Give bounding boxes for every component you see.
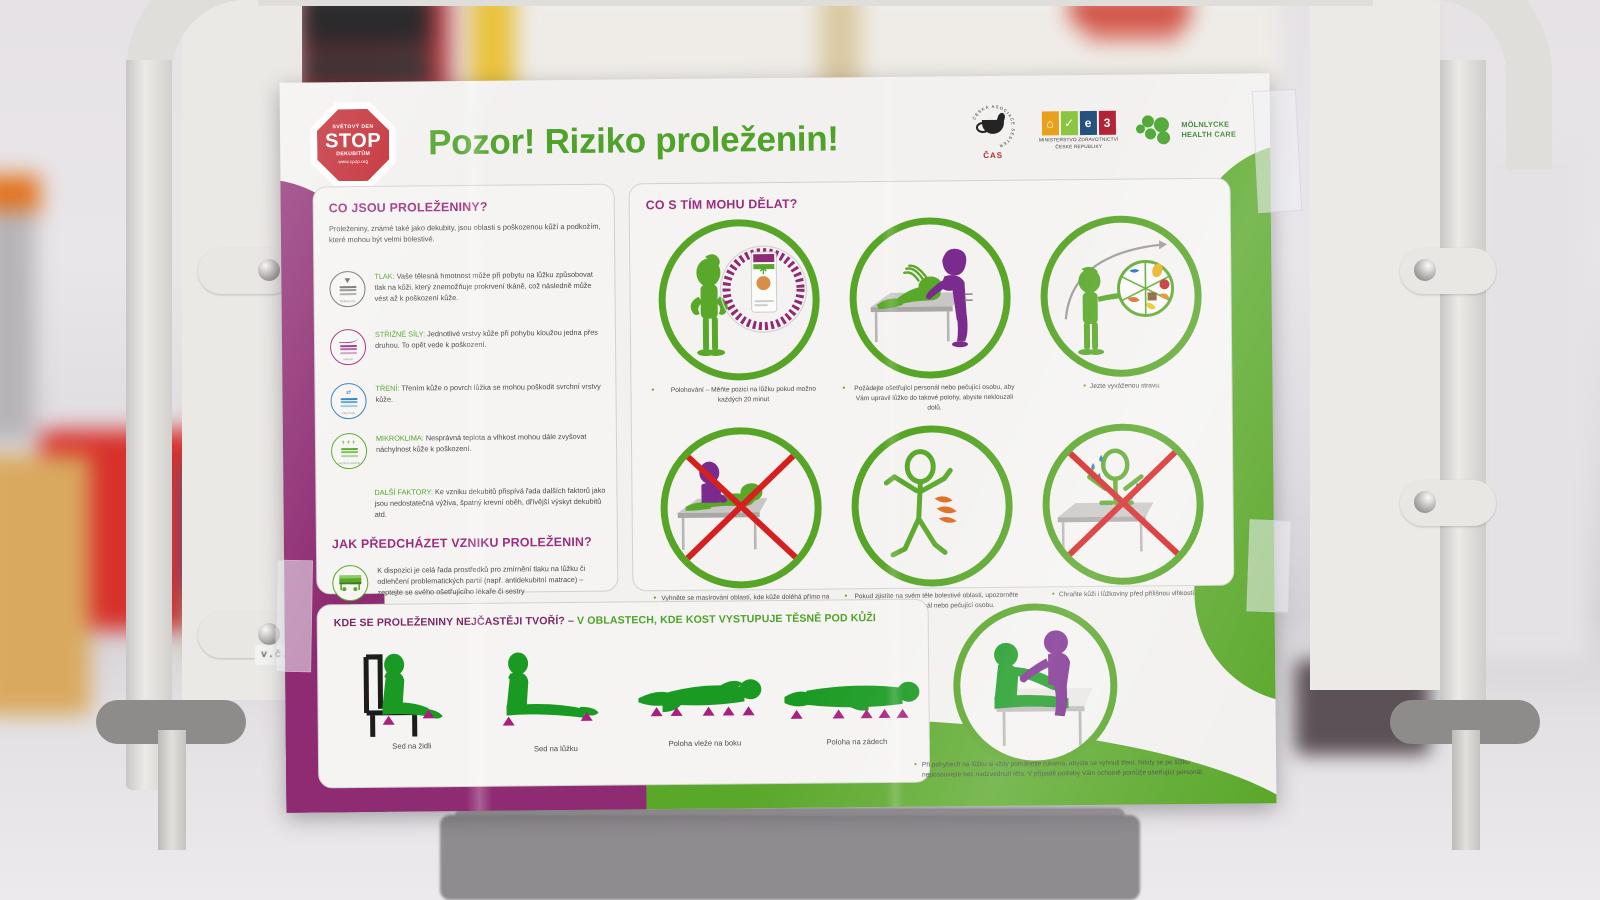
- advice-caption-avoid-moisture: Chraňte kůži i lůžkoviny před přílišnou …: [1059, 589, 1196, 600]
- stop-octagon-icon: SVĚTOVÝ DEN STOP DEKUBITŮM www.cpzp.org: [310, 102, 397, 189]
- logo-ministerstvo-zdravotnictvi: ⌂ ✓ e 3 MINISTERSTVO ZDRAVOTNICTVÍ ČESKÉ…: [1039, 111, 1119, 152]
- position-label-side: Poloha vleže na boku: [625, 738, 785, 749]
- factor-other: DALŠÍ FAKTORY: Ke vzniku dekubitů přispí…: [374, 485, 607, 521]
- no-massage-icon: [660, 426, 823, 589]
- bed-rail-left: [126, 60, 172, 790]
- pressure-icon-label: PRESSURE: [331, 300, 365, 303]
- cas-abbreviation: ČAS: [983, 151, 1003, 160]
- bed-base: [440, 815, 1140, 900]
- bottom-panel-heading: KDE SE PROLEŽENINY NEJČASTĚJI TVOŘÍ? – V…: [334, 612, 876, 629]
- stop-logo-sub-text: DEKUBITŮM: [336, 152, 370, 158]
- pressure-icon: PRESSURE: [329, 271, 365, 307]
- molnlycke-dots-icon: [1136, 115, 1176, 145]
- bottom-heading-magenta: KDE SE PROLEŽENINY NEJČASTĚJI TVOŘÍ? –: [334, 615, 577, 629]
- advice-caption-bed-adjust: Požádejte ošetřující personál nebo pečuj…: [849, 383, 1019, 414]
- tape-bottom-left: [275, 560, 313, 673]
- molnlycke-line-2: HEALTH CARE: [1181, 130, 1236, 141]
- panel-what-can-i-do: CO S TÍM MOHU DĚLAT?: [629, 178, 1235, 592]
- factor-term-pressure: TLAK:: [374, 272, 394, 281]
- pressure-ulcer-poster: SVĚTOVÝ DEN STOP DEKUBITŮM www.cpzp.org …: [280, 73, 1277, 812]
- bullet-icon: •: [1052, 590, 1055, 600]
- red-bar-2: [1085, 18, 1180, 40]
- stop-logo-main-text: STOP: [325, 131, 381, 152]
- ministry-tiles-icon: ⌂ ✓ e 3: [1041, 111, 1115, 136]
- advice-item-avoid-moisture: •Chraňte kůži i lůžkoviny před přílišnou…: [1034, 423, 1213, 610]
- position-sitting-bed: Sed na lůžku: [480, 644, 631, 744]
- bed-rail-clip-right-lower[interactable]: [1400, 480, 1496, 526]
- advice-item-repositioning: •Polohování – Měňte pozici na lůžku poku…: [650, 219, 829, 416]
- bed-rail-clip-right-upper[interactable]: [1400, 248, 1496, 294]
- right-panel-heading: CO S TÍM MOHU DĚLAT?: [646, 197, 798, 212]
- position-lying-back: Poloha na zádech: [776, 673, 937, 736]
- body-positions: Sed na židli: [328, 638, 921, 776]
- report-pain-icon: [851, 424, 1014, 587]
- microclimate-icon-label: MICROCLIMATE: [332, 462, 366, 465]
- repositioning-clock-icon: [658, 219, 821, 382]
- factor-term-microclimate: MIKROKLIMA:: [376, 433, 424, 442]
- friction-icon: ⇄ FRICTION: [330, 383, 366, 419]
- lying-on-side-icon: [624, 669, 785, 731]
- stop-decubitus-logo: SVĚTOVÝ DEN STOP DEKUBITŮM www.cpzp.org: [310, 102, 397, 189]
- balanced-diet-icon: [1040, 215, 1203, 378]
- poster-header: SVĚTOVÝ DEN STOP DEKUBITŮM www.cpzp.org …: [310, 91, 1247, 178]
- bolt-icon: [1414, 491, 1436, 513]
- stop-logo-url: www.cpzp.org: [338, 160, 368, 165]
- bullet-icon: •: [842, 384, 845, 414]
- shear-icon: SHEAR: [330, 329, 366, 365]
- ministry-line-1: MINISTERSTVO ZDRAVOTNICTVÍ: [1039, 138, 1119, 145]
- bottom-right-caption-text: Při pohybech na lůžku si vždy pomáhejte …: [922, 758, 1214, 781]
- logo-molnlycke: MÖLNLYCKE HEALTH CARE: [1136, 115, 1236, 146]
- use-arms-when-moving-icon: [953, 603, 1119, 769]
- logo-ceska-asociace-sester: ČESKÁ ASOCIACE SESTER ČAS: [965, 104, 1022, 161]
- position-label-bed: Sed na lůžku: [476, 743, 636, 754]
- grey-seat: [0, 210, 35, 440]
- bullet-icon: •: [1083, 382, 1086, 392]
- bed-leg-right: [1452, 730, 1480, 850]
- tape-top-right: [1252, 89, 1302, 213]
- ministry-line-2: ČESKÉ REPUBLIKY: [1039, 144, 1119, 151]
- ministry-tile-2: ✓: [1060, 111, 1077, 135]
- friction-icon-label: FRICTION: [332, 412, 366, 415]
- bed-adjust-nurse-icon: [849, 217, 1012, 380]
- factor-term-other: DALŠÍ FAKTORY:: [374, 487, 433, 497]
- partner-logos: ČESKÁ ASOCIACE SESTER ČAS ⌂ ✓ e 3: [965, 102, 1237, 161]
- mattress-icon: [332, 565, 368, 601]
- microclimate-icon: ↟↟↟ MICROCLIMATE: [331, 433, 367, 469]
- bed-rail-right: [1440, 60, 1486, 740]
- ministry-tile-3: e: [1079, 111, 1096, 135]
- factor-term-friction: TŘENÍ:: [375, 384, 399, 393]
- ministry-tile-4: 3: [1098, 111, 1115, 135]
- position-lying-side: Poloha vleže na boku: [624, 669, 785, 736]
- bed-leg-left: [158, 730, 186, 850]
- advice-caption-diet: Jezte vyváženou stravu.: [1090, 381, 1161, 392]
- advice-item-no-massage: •Vyhněte se masírování oblastí, kde kůže…: [652, 426, 831, 613]
- bottom-right-caption: • Při pohybech na lůžku si vždy pomáhejt…: [914, 758, 1214, 781]
- bolt-icon: [258, 259, 280, 281]
- advice-item-report-pain: •Pokud zjistíte na svém těle bolestivé o…: [843, 424, 1022, 611]
- ministry-tile-1: ⌂: [1041, 111, 1058, 135]
- advice-item-diet: •Jezte vyváženou stravu.: [1032, 215, 1211, 412]
- prevention-text-mattress: K dispozici je celá řada prostředků pro …: [377, 563, 610, 599]
- cas-ring-icon: ČESKÁ ASOCIACE SESTER: [970, 104, 1016, 150]
- panel-where-ulcers-form: KDE SE PROLEŽENINY NEJČASTĚJI TVOŘÍ? – V…: [317, 599, 931, 789]
- bolt-icon: [1414, 259, 1436, 281]
- page-title: Pozor! Riziko proleženin!: [428, 119, 839, 163]
- lying-on-back-icon: [776, 673, 937, 731]
- advice-item-bed-adjust: •Požádejte ošetřující personál nebo peču…: [841, 217, 1020, 414]
- orange-edge: [0, 175, 40, 215]
- bed-rail-top: [258, 0, 1373, 6]
- sitting-in-bed-icon: [480, 644, 631, 739]
- molnlycke-line-1: MÖLNLYCKE: [1181, 120, 1236, 131]
- avoid-moisture-icon: [1042, 423, 1205, 586]
- bed-rail-clip-left-upper[interactable]: [198, 248, 294, 294]
- position-label-back: Poloha na zádech: [777, 736, 937, 747]
- tape-bottom-right: [1246, 519, 1291, 612]
- factor-term-shear: STŘIŽNÉ SÍLY:: [375, 329, 425, 338]
- bottom-heading-green: V OBLASTECH, KDE KOST VYSTUPUJE TĚSNĚ PO…: [577, 612, 876, 627]
- bullet-icon: •: [914, 761, 917, 781]
- advice-caption-repositioning: Polohování – Měňte pozici na lůžku pokud…: [658, 385, 828, 406]
- wall-pillar: [1470, 140, 1590, 660]
- shear-icon-label: SHEAR: [331, 358, 365, 361]
- wood-table: [0, 455, 90, 715]
- bullet-icon: •: [651, 386, 654, 406]
